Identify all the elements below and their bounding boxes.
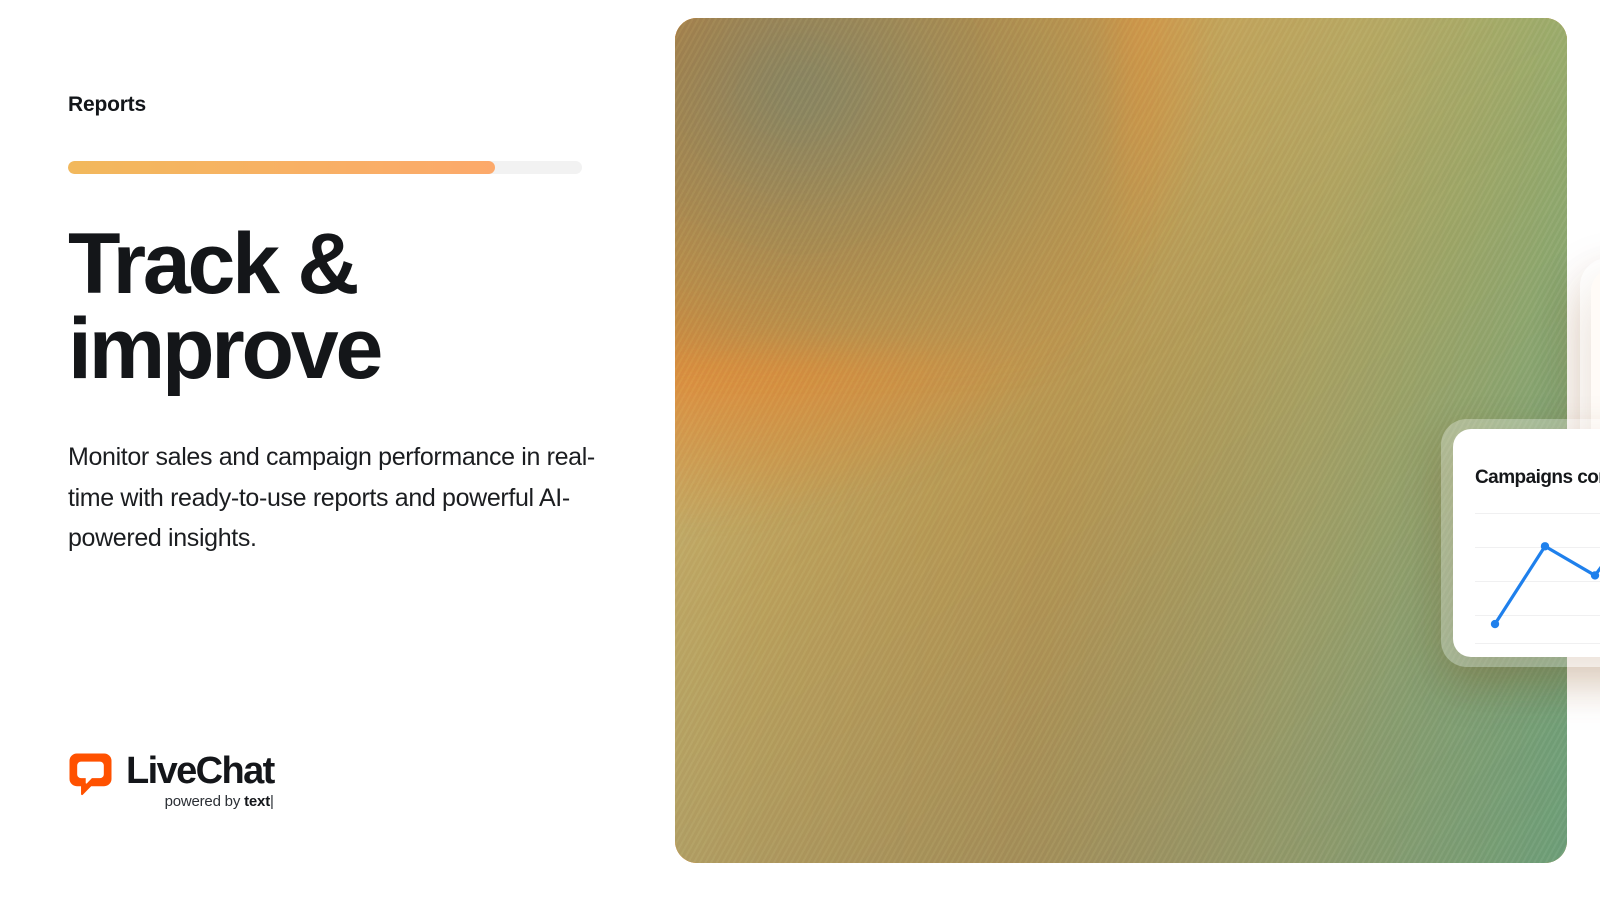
left-content-pane: Reports Track & improve Monitor sales an… [0,0,672,900]
progress-bar-fill [68,161,495,174]
campaigns-conversion-line-chart [1453,429,1600,657]
data-point [1591,571,1599,579]
powered-by-prefix: powered by [165,793,245,810]
bg-paper-grain [675,18,1567,863]
progress-bar-track [68,161,582,174]
data-point [1541,542,1549,550]
powered-by-brand: text [244,793,270,810]
right-artwork-pane: Total chats 5,581 Total chats [672,0,1600,900]
page-eyebrow-label: Reports [68,93,146,117]
text-caret-icon: | [270,793,274,810]
livechat-speech-bubble-icon [68,752,113,797]
data-point [1491,620,1499,628]
brand-logo-lockup: LiveChat powered by text| [68,752,274,810]
campaigns-conversion-card[interactable]: Campaigns conversion [1453,429,1600,657]
slide-root: Reports Track & improve Monitor sales an… [0,0,1600,900]
page-description: Monitor sales and campaign performance i… [68,437,613,559]
brand-powered-by: powered by text| [165,793,274,810]
page-title: Track & improve [68,222,588,392]
brand-wordmark: LiveChat [126,752,274,791]
watercolor-background [675,18,1567,863]
brand-text-block: LiveChat powered by text| [126,752,274,810]
line-path [1495,481,1600,624]
